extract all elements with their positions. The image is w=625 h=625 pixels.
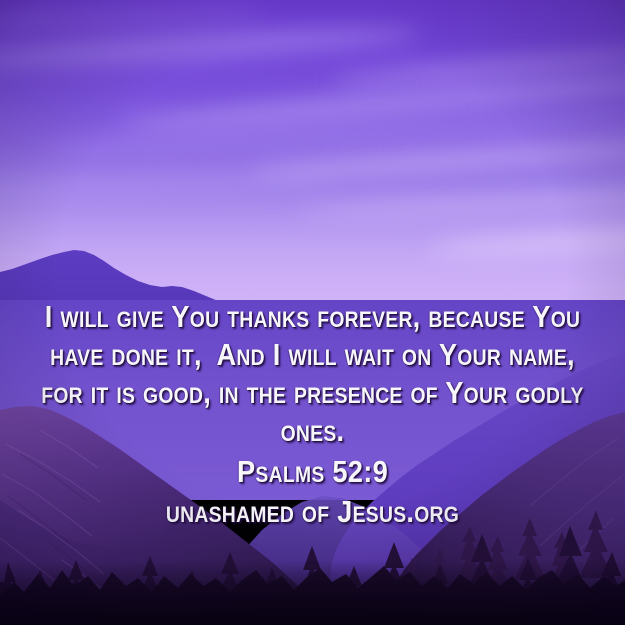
site-attribution: unashamed of Jesus.org (38, 493, 588, 531)
verse-reference: Psalms 52:9 (38, 453, 588, 491)
verse-line-3: for it is good, in the presence of Your … (38, 374, 588, 412)
scripture-image-canvas: I will give You thanks forever, because … (0, 0, 625, 625)
verse-line-2: have done it, And I will wait on Your na… (38, 336, 588, 374)
verse-line-4: ones. (38, 412, 588, 450)
verse-line-1: I will give You thanks forever, because … (38, 298, 588, 336)
verse-text-block: I will give You thanks forever, because … (0, 298, 625, 531)
bottom-shadow-gradient (0, 560, 625, 625)
